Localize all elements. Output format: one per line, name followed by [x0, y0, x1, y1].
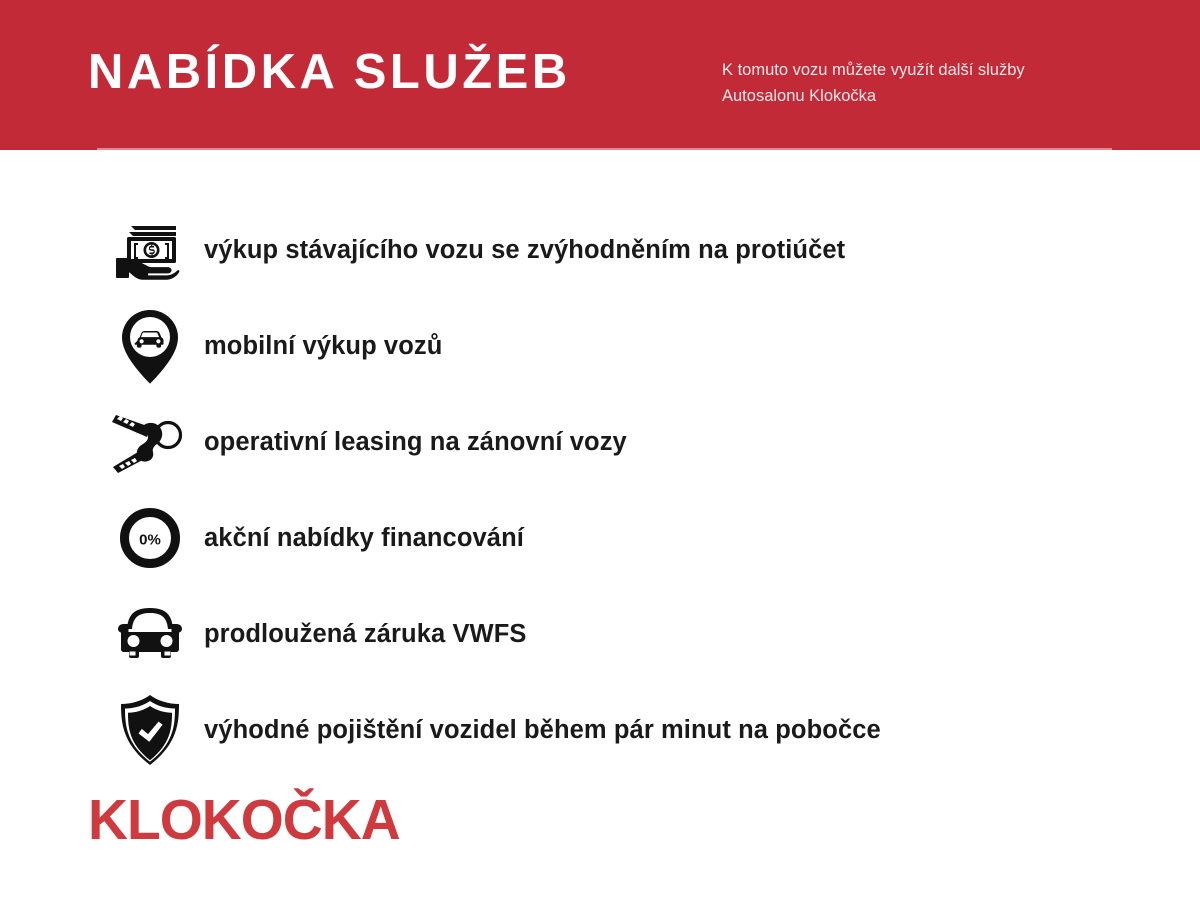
- header-divider: [97, 148, 1112, 150]
- car-front-icon: [110, 594, 190, 674]
- zero-percent-label: 0%: [139, 532, 161, 549]
- header-subtitle-line-1: K tomuto vozu můžete využít další služby: [722, 58, 1132, 84]
- service-label: akční nabídky financování: [204, 524, 524, 553]
- service-item-mobile-buyback: mobilní výkup vozů: [110, 298, 442, 394]
- service-item-insurance: výhodné pojištění vozidel během pár minu…: [110, 682, 881, 778]
- page-title: NABÍDKA SLUŽEB: [88, 48, 571, 97]
- klokocka-logo: KLOKOČKA: [88, 792, 400, 849]
- zero-percent-circle-icon: 0%: [110, 498, 190, 578]
- car-keys-icon: [110, 402, 190, 482]
- map-pin-car-icon: [110, 306, 190, 386]
- shield-check-icon: [110, 690, 190, 770]
- service-item-operating-lease: operativní leasing na zánovní vozy: [110, 394, 627, 490]
- service-label: operativní leasing na zánovní vozy: [204, 428, 627, 457]
- header-subtitle-line-2: Autosalonu Klokočka: [722, 84, 1132, 110]
- header-subtitle: K tomuto vozu můžete využít další služby…: [722, 58, 1132, 109]
- page-header: NABÍDKA SLUŽEB K tomuto vozu můžete využ…: [0, 0, 1200, 150]
- service-label: výkup stávajícího vozu se zvýhodněním na…: [204, 236, 845, 265]
- service-label: mobilní výkup vozů: [204, 332, 442, 361]
- service-item-extended-warranty: prodloužená záruka VWFS: [110, 586, 527, 682]
- service-item-buyback: výkup stávajícího vozu se zvýhodněním na…: [110, 202, 845, 298]
- service-label: prodloužená záruka VWFS: [204, 620, 527, 649]
- service-label: výhodné pojištění vozidel během pár minu…: [204, 716, 881, 745]
- service-item-financing: 0% akční nabídky financování: [110, 490, 524, 586]
- money-in-hand-icon: [110, 210, 190, 290]
